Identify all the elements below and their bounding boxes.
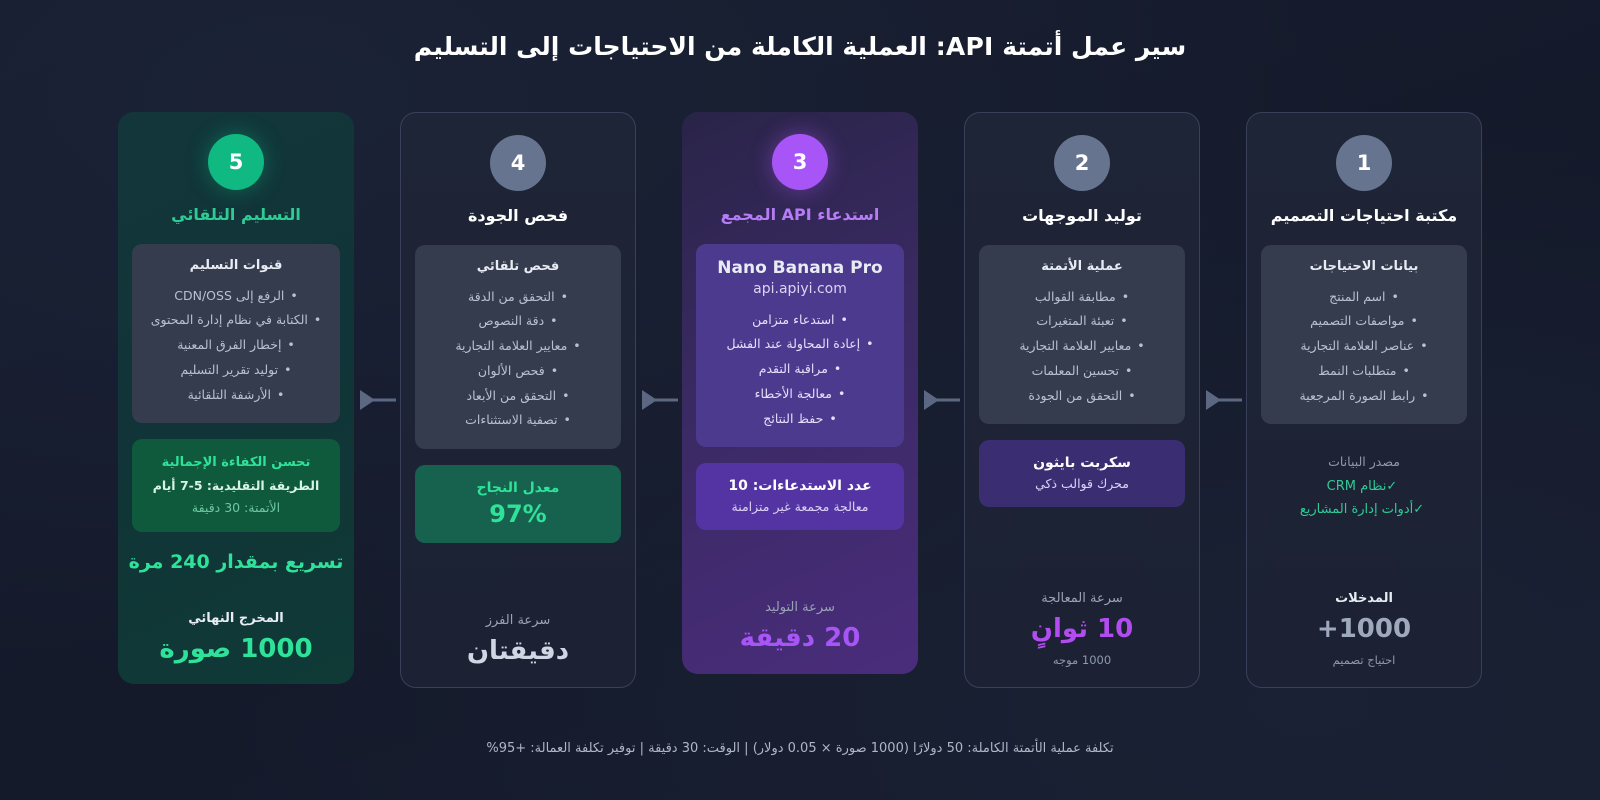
- list-item: مراقبة التقدم: [708, 357, 892, 382]
- footer-summary: تكلفة عملية الأتمتة الكاملة: 50 دولارًا …: [0, 741, 1600, 756]
- workflow-step-5[interactable]: 5 التسليم التلقائي قنوات التسليم الرفع إ…: [118, 112, 354, 684]
- metric-label: سرعة التوليد: [696, 600, 904, 615]
- success-rate-value: 97%: [425, 499, 611, 530]
- metric-note: 1000 موجه: [979, 653, 1185, 667]
- metric-label: المدخلات: [1261, 591, 1467, 606]
- workflow-canvas: سير عمل أتمتة API: العملية الكاملة من ال…: [0, 0, 1600, 800]
- step-badge-5: 5: [208, 134, 264, 190]
- panel-bullet-list: مطابقة القوالب تعبئة المتغيرات معايير ال…: [991, 285, 1173, 409]
- step-3-metric: سرعة التوليد 20 دقيقة: [696, 600, 904, 654]
- metric-note: احتياج تصميم: [1261, 653, 1467, 667]
- data-source-label: مصدر البيانات: [1261, 454, 1467, 469]
- script-name: سكربت بايثون: [989, 453, 1175, 474]
- panel-title: بيانات الاحتياجات: [1273, 259, 1455, 274]
- arrow-connector-1-2: [1200, 112, 1246, 688]
- list-item: التحقق من الجودة: [991, 384, 1173, 409]
- data-source-item: ✓أدوات إدارة المشاريع: [1261, 499, 1467, 521]
- panel-bullet-list: اسم المنتج مواصفات التصميم عناصر العلامة…: [1273, 285, 1455, 409]
- list-item: معايير العلامة التجارية: [427, 334, 609, 359]
- api-model-name: Nano Banana Pro: [708, 258, 892, 278]
- step-3-panel: Nano Banana Pro api.apiyi.com استدعاء مت…: [696, 244, 904, 448]
- step-2-metric: سرعة المعالجة 10 ثوانٍ 1000 موجه: [979, 591, 1185, 667]
- workflow-step-4[interactable]: 4 فحص الجودة فحص تلقائي التحقق من الدقة …: [400, 112, 636, 688]
- metric-value: دقيقتان: [415, 637, 621, 667]
- list-item: توليد تقرير التسليم: [144, 358, 328, 383]
- metric-value: 1000 صورة: [132, 635, 340, 665]
- list-item: رابط الصورة المرجعية: [1273, 384, 1455, 409]
- step-4-success-box: معدل النجاح 97%: [415, 465, 621, 543]
- efficiency-title: تحسن الكفاءة الإجمالية: [142, 452, 330, 475]
- metric-label: المخرج النهائي: [132, 611, 340, 626]
- step-3-calls-box: عدد الاستدعاءات: 10 معالجة مجمعة غير متز…: [696, 463, 904, 530]
- list-item: معايير العلامة التجارية: [991, 334, 1173, 359]
- panel-bullet-list: التحقق من الدقة دقة النصوص معايير العلام…: [427, 285, 609, 434]
- list-item: الأرشفة التلقائية: [144, 383, 328, 408]
- step-1-source-block: مصدر البيانات ✓نظام CRM ✓أدوات إدارة الم…: [1261, 454, 1467, 521]
- efficiency-traditional: الطريقة التقليدية: 5-7 أيام: [142, 475, 330, 497]
- step-title-1: مكتبة احتياجات التصميم: [1271, 205, 1457, 227]
- call-mode-label: معالجة مجمعة غير متزامنة: [706, 497, 894, 517]
- data-source-item: ✓نظام CRM: [1261, 476, 1467, 498]
- list-item: اسم المنتج: [1273, 285, 1455, 310]
- step-title-5: التسليم التلقائي: [171, 204, 301, 226]
- data-source-item-label: نظام CRM: [1327, 479, 1387, 494]
- arrow-head-icon: [360, 390, 375, 410]
- arrow-head-icon: [642, 390, 657, 410]
- workflow-row: 5 التسليم التلقائي قنوات التسليم الرفع إ…: [0, 112, 1600, 692]
- workflow-step-3[interactable]: 3 استدعاء API المجمع Nano Banana Pro api…: [682, 112, 918, 674]
- list-item: مطابقة القوالب: [991, 285, 1173, 310]
- step-2-script-box: سكربت بايثون محرك قوالب ذكي: [979, 440, 1185, 507]
- panel-bullet-list: الرفع إلى CDN/OSS الكتابة في نظام إدارة …: [144, 284, 328, 408]
- list-item: التحقق من الأبعاد: [427, 384, 609, 409]
- metric-label: سرعة المعالجة: [979, 591, 1185, 606]
- list-item: حفظ النتائج: [708, 407, 892, 432]
- step-badge-2: 2: [1054, 135, 1110, 191]
- metric-label: سرعة الفرز: [415, 613, 621, 628]
- list-item: استدعاء متزامن: [708, 308, 892, 333]
- list-item: معالجة الأخطاء: [708, 382, 892, 407]
- list-item: الكتابة في نظام إدارة المحتوى: [144, 308, 328, 333]
- step-badge-3: 3: [772, 134, 828, 190]
- arrow-connector-3-4: [636, 112, 682, 688]
- call-count-label: عدد الاستدعاءات: 10: [706, 476, 894, 497]
- panel-title: فحص تلقائي: [427, 259, 609, 274]
- step-title-2: توليد الموجهات: [1022, 205, 1142, 227]
- list-item: متطلبات النمط: [1273, 359, 1455, 384]
- arrow-connector-2-3: [918, 112, 964, 688]
- check-icon: ✓: [1386, 479, 1397, 494]
- list-item: تعبئة المتغيرات: [991, 309, 1173, 334]
- script-desc: محرك قوالب ذكي: [989, 474, 1175, 494]
- page-title: سير عمل أتمتة API: العملية الكاملة من ال…: [414, 32, 1186, 61]
- step-title-4: فحص الجودة: [468, 205, 568, 227]
- efficiency-automated: الأتمتة: 30 دقيقة: [142, 497, 330, 519]
- panel-title: قنوات التسليم: [144, 258, 328, 273]
- list-item: تحسين المعلمات: [991, 359, 1173, 384]
- list-item: تصفية الاستثناءات: [427, 408, 609, 433]
- list-item: إعادة المحاولة عند الفشل: [708, 332, 892, 357]
- list-item: التحقق من الدقة: [427, 285, 609, 310]
- title-bar: سير عمل أتمتة API: العملية الكاملة من ال…: [0, 0, 1600, 92]
- speedup-highlight: تسريع بمقدار 240 مرة: [129, 550, 344, 575]
- list-item: عناصر العلامة التجارية: [1273, 334, 1455, 359]
- panel-title: عملية الأتمتة: [991, 259, 1173, 274]
- workflow-step-2[interactable]: 2 توليد الموجهات عملية الأتمتة مطابقة ال…: [964, 112, 1200, 688]
- step-badge-1: 1: [1336, 135, 1392, 191]
- step-1-panel: بيانات الاحتياجات اسم المنتج مواصفات الت…: [1261, 245, 1467, 425]
- step-4-metric: سرعة الفرز دقيقتان: [415, 613, 621, 667]
- metric-value: 10 ثوانٍ: [979, 615, 1185, 645]
- step-badge-4: 4: [490, 135, 546, 191]
- list-item: إخطار الفرق المعنية: [144, 333, 328, 358]
- panel-bullet-list: استدعاء متزامن إعادة المحاولة عند الفشل …: [708, 308, 892, 432]
- list-item: الرفع إلى CDN/OSS: [144, 284, 328, 309]
- list-item: مواصفات التصميم: [1273, 309, 1455, 334]
- api-endpoint: api.apiyi.com: [708, 281, 892, 297]
- step-2-panel: عملية الأتمتة مطابقة القوالب تعبئة المتغ…: [979, 245, 1185, 425]
- arrow-head-icon: [924, 390, 939, 410]
- arrow-head-icon: [1206, 390, 1221, 410]
- arrow-connector-4-5: [354, 112, 400, 688]
- step-5-panel: قنوات التسليم الرفع إلى CDN/OSS الكتابة …: [132, 244, 340, 424]
- list-item: فحص الألوان: [427, 359, 609, 384]
- step-5-efficiency-box: تحسن الكفاءة الإجمالية الطريقة التقليدية…: [132, 439, 340, 532]
- list-item: دقة النصوص: [427, 309, 609, 334]
- workflow-step-1[interactable]: 1 مكتبة احتياجات التصميم بيانات الاحتياج…: [1246, 112, 1482, 688]
- step-4-panel: فحص تلقائي التحقق من الدقة دقة النصوص مع…: [415, 245, 621, 450]
- success-rate-label: معدل النجاح: [425, 478, 611, 499]
- metric-value: 20 دقيقة: [696, 624, 904, 654]
- data-source-item-label: أدوات إدارة المشاريع: [1300, 502, 1413, 517]
- metric-value: 1000+: [1261, 615, 1467, 645]
- check-icon: ✓: [1413, 502, 1424, 517]
- step-title-3: استدعاء API المجمع: [721, 204, 880, 226]
- step-1-metric: المدخلات 1000+ احتياج تصميم: [1261, 591, 1467, 667]
- step-5-metric: المخرج النهائي 1000 صورة: [132, 611, 340, 665]
